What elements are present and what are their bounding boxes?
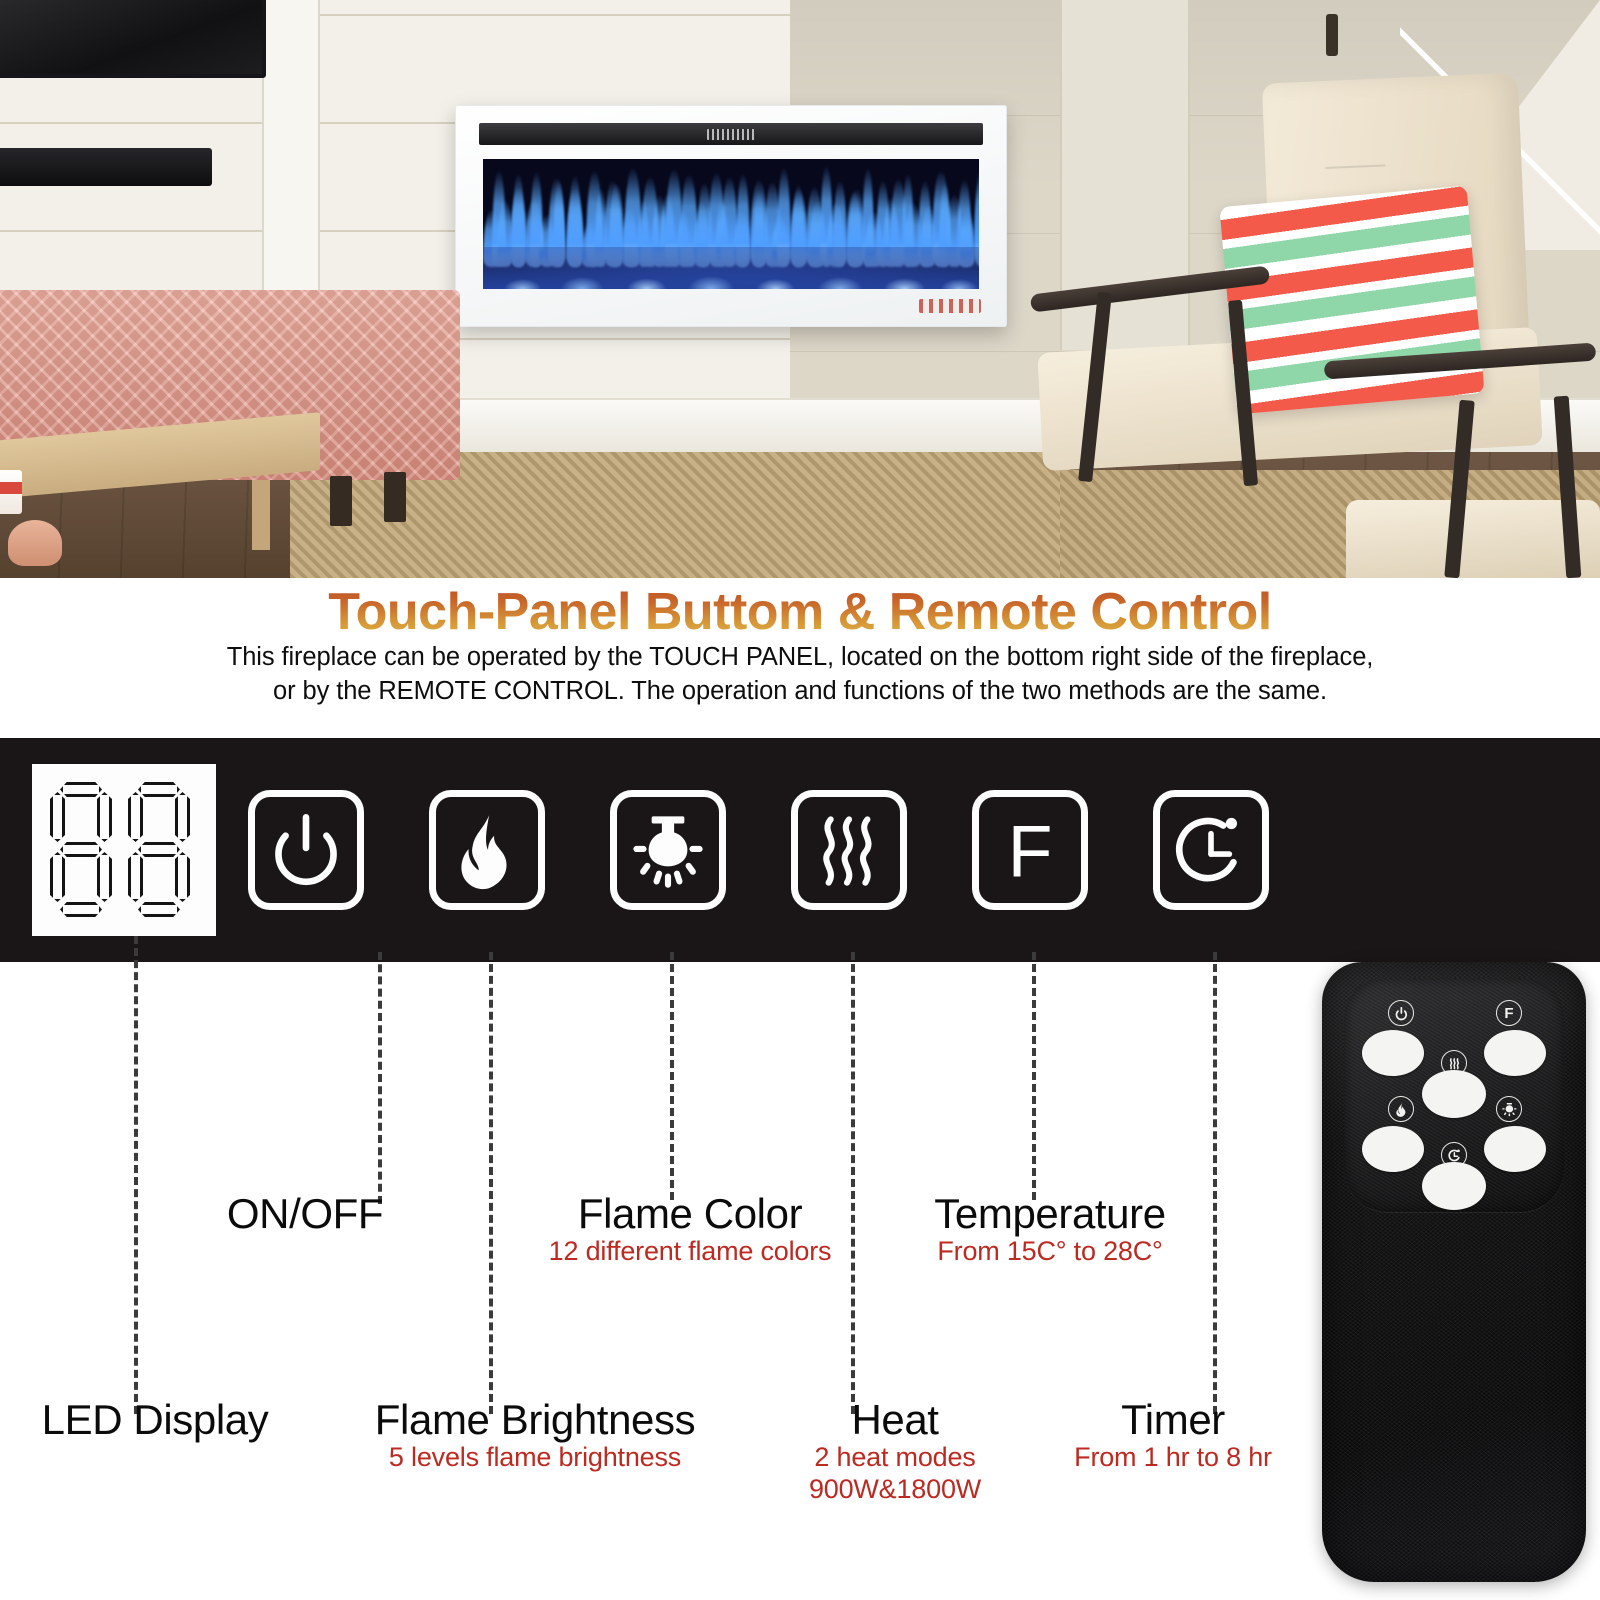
light-bulb-icon[interactable] [610,790,726,910]
light-bulb-glyph [1500,1100,1519,1119]
heat-waves-icon[interactable] [791,790,907,910]
remote-button-flame[interactable] [1362,1126,1424,1172]
label-led-display: LED Display [10,1398,300,1442]
power-icon[interactable] [248,790,364,910]
fireplace-touch-panel[interactable] [919,299,981,313]
soundbar [0,148,212,186]
power-glyph [255,797,357,903]
segment-b [175,792,190,842]
segment-f [50,792,65,842]
fahrenheit-glyph: F [979,797,1081,903]
ottoman-leg [384,472,406,522]
segment-d [60,902,102,917]
coffee-table-leg [252,480,270,550]
segment-c [97,852,112,902]
subtitle-line-1: This fireplace can be operated by the TO… [0,640,1600,674]
remote-button-power[interactable] [1362,1030,1424,1076]
remote-control[interactable]: F [1322,962,1586,1582]
fireplace-glass-firebox [483,159,979,289]
segment-a [60,782,102,797]
label-timer: Timer From 1 hr to 8 hr [1028,1398,1318,1474]
segment-g [138,842,180,857]
led-display-icon [32,764,216,936]
crystal-ember-bed [483,247,979,289]
title-block: Touch-Panel Buttom & Remote Control This… [0,578,1600,738]
connector-flame-color [670,952,674,1200]
hand-in-frame [8,520,62,566]
light-bulb-icon [1496,1096,1522,1122]
remote-button-heat[interactable] [1422,1070,1486,1118]
remote-keypad-area: F [1344,978,1564,1212]
power-icon [1388,1000,1414,1026]
segment-e [128,852,143,902]
flame-icon[interactable] [429,790,545,910]
ottoman-leg [330,476,352,526]
seven-segment-digit [126,780,192,920]
product-lifestyle-photo [0,0,1600,578]
connector-power [378,952,382,1204]
remote-button-light[interactable] [1484,1126,1546,1172]
heat-waves-glyph [798,797,900,903]
label-heat: Heat 2 heat modes 900W&1800W [790,1398,1000,1506]
flame-glyph [436,797,538,903]
segment-b [97,792,112,842]
light-bulb-glyph [617,797,719,903]
door-handle [1326,14,1338,56]
page-title: Touch-Panel Buttom & Remote Control [0,578,1600,640]
connector-flame-brightness [489,952,493,1414]
label-temperature: Temperature From 15C° to 28C° [900,1192,1200,1268]
timer-clock-icon[interactable] [1153,790,1269,910]
remote-button-timer[interactable] [1422,1162,1486,1210]
connector-heat [851,952,855,1414]
segment-g [60,842,102,857]
touch-panel-icon-strip: F [0,738,1600,962]
label-flame-color: Flame Color 12 different flame colors [545,1192,835,1268]
label-flame-brightness: Flame Brightness 5 levels flame brightne… [340,1398,730,1474]
remote-button-temperature[interactable] [1484,1030,1546,1076]
connector-temperature [1032,952,1036,1200]
flame-glyph [1392,1100,1411,1119]
connector-timer [1213,952,1217,1414]
flat-screen-tv [0,0,266,78]
svg-text:F: F [1008,811,1053,893]
subtitle-line-2: or by the REMOTE CONTROL. The operation … [0,674,1600,708]
power-glyph [1392,1004,1411,1023]
flame-icon [1388,1096,1414,1122]
segment-d [138,902,180,917]
striped-throw-pillow [1219,186,1484,415]
label-on-off: ON/OFF [205,1192,405,1236]
segment-f [128,792,143,842]
segment-a [138,782,180,797]
upholstery-tuft [1325,164,1385,169]
cup-label-band [0,482,22,494]
timer-clock-glyph [1160,797,1262,903]
fahrenheit-icon[interactable]: F [972,790,1088,910]
seven-segment-digit [48,780,114,920]
fahrenheit-icon: F [1496,1000,1522,1026]
segment-e [50,852,65,902]
segment-c [175,852,190,902]
connector-led-display [134,936,138,1414]
fireplace-brand-label [707,129,755,140]
electric-fireplace-unit [455,105,1007,327]
